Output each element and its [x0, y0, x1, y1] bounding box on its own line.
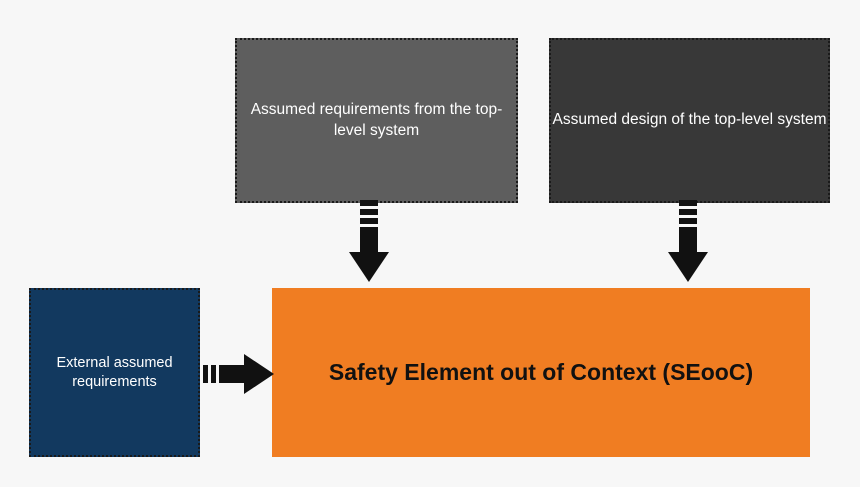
- arrow-assumed-requirements-to-seooc: [345, 200, 393, 288]
- box-assumed-design-label: Assumed design of the top-level system: [553, 110, 827, 130]
- box-assumed-design: Assumed design of the top-level system: [549, 38, 830, 203]
- box-external-assumed-requirements-label: External assumed requirements: [31, 354, 198, 392]
- box-seooc-label: Safety Element out of Context (SEooC): [329, 356, 753, 389]
- box-assumed-requirements: Assumed requirements from the top-level …: [235, 38, 518, 203]
- box-assumed-requirements-label: Assumed requirements from the top-level …: [237, 100, 516, 140]
- arrow-assumed-design-to-seooc: [664, 200, 712, 288]
- box-external-assumed-requirements: External assumed requirements: [29, 288, 200, 457]
- box-seooc: Safety Element out of Context (SEooC): [272, 288, 810, 457]
- diagram-canvas: Assumed requirements from the top-level …: [0, 0, 860, 487]
- arrow-external-requirements-to-seooc: [203, 352, 279, 396]
